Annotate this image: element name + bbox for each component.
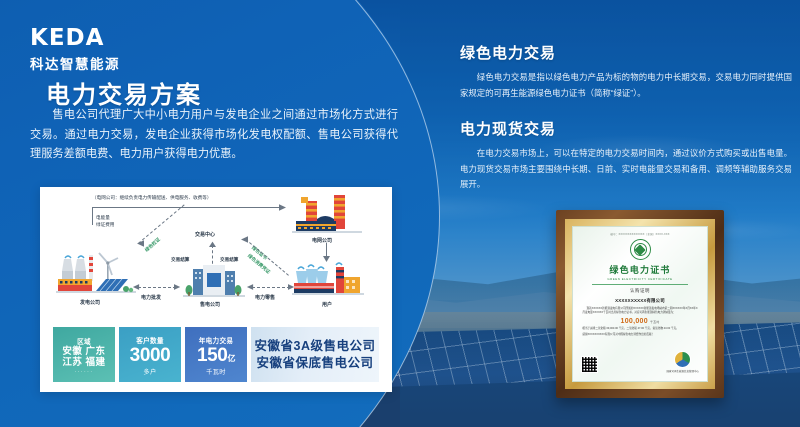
arrow-head-up-icon [208, 241, 217, 248]
diagram-green-cert-label: 绿色权证 [144, 237, 162, 254]
certificate-serial: 编号：XXXXXXXXXXXXXX（全国）XXXX-XXX [610, 232, 669, 236]
diagram-retail-line [252, 287, 290, 288]
certificate-footer-1: 相当于减排二氧化碳 69,000.00 千克，二氧化硫 47.00 千克，氮氧化… [582, 327, 697, 331]
section-2-paragraph: 在电力交易市场上，可以在特定的电力交易时间内，通过议价方式购买或出售电量。电力现… [460, 146, 792, 193]
stat-annual-volume-value-wrap: 150亿 [197, 346, 235, 365]
stat-annual-volume: 年电力交易 150亿 千瓦时 [185, 327, 247, 382]
certificate-bottom-row: 国家可再生能源信息管理中心 [581, 351, 699, 374]
issuer-badge-icon [674, 351, 691, 368]
section-spot-trading: 电力现货交易 在电力交易市场上，可以在特定的电力交易时间内，通过议价方式购买或出… [460, 118, 792, 193]
certificate-footer-2: 感谢XXXXXXXXXX有限公司对中国绿色电力消费作出的贡献！ [582, 333, 697, 337]
certificate-divider [592, 284, 688, 285]
certificate-amount: 100,000 [621, 318, 648, 325]
qualification-line-2: 安徽省保底售电公司 [256, 355, 373, 372]
certificate-amount-wrap: 100,000 千瓦时 [621, 318, 660, 325]
diagram-arrow-top-riser [92, 207, 93, 225]
page-intro-paragraph: 售电公司代理广大中小电力用户与发电企业之间通过市场化方式进行交易。通过电力交易，… [30, 106, 398, 165]
section-green-power-trading: 绿色电力交易 绿色电力交易是指以绿色电力产品为标的物的电力中长期交易，交易电力同… [460, 42, 792, 101]
grid-company-icon [292, 193, 362, 237]
certificate-company: XXXXXXXXXX有限公司 [615, 298, 665, 304]
stat-annual-volume-value: 150 [197, 345, 228, 366]
diagram-node-grid-label: 电网公司 [312, 237, 332, 244]
diagram-retail-label: 电力零售 [255, 294, 275, 301]
page-title: 电力交易方案 [46, 75, 202, 110]
section-2-title: 电力现货交易 [460, 118, 792, 139]
certificate-issuer: 国家可再生能源信息管理中心 [667, 351, 699, 374]
stat-customers-value: 3000 [130, 346, 171, 365]
qualification-line-1: 安徽省3A级售电公司 [255, 338, 376, 355]
arrow-head-left-retail-icon [246, 283, 254, 291]
arrow-head-left-icon [136, 239, 145, 248]
stat-qualifications: KEDA 安徽省3A级售电公司 安徽省保底售电公司 [251, 327, 379, 382]
diagram-fee-label-line2: 绿证费用 [96, 222, 114, 228]
section-1-title: 绿色电力交易 [460, 42, 792, 63]
green-certificate-photo: 编号：XXXXXXXXXXXXXX（全国）XXXX-XXX 绿色电力证书 GRE… [556, 210, 724, 398]
qr-code-icon [581, 356, 598, 373]
certificate-seal-core [634, 244, 645, 255]
stat-region-line2: 江苏 福建 [62, 358, 105, 369]
left-column: 电力交易方案 售电公司代理广大中小电力用户与发电企业之间通过市场化方式进行交易。… [0, 0, 420, 427]
diagram-node-generation-label: 发电公司 [80, 299, 100, 306]
diagram-node-sales-label: 售电公司 [200, 301, 220, 308]
diagram-node-user-label: 用户 [322, 301, 332, 308]
stats-strip: 区域 安徽 广东 江苏 福建 ······ 客户数量 3000 多户 年电力交易… [53, 327, 379, 382]
diagram-fee-label-line1: 电能量 [96, 215, 110, 221]
diagram-trading-center-label: 交易中心 [195, 231, 215, 238]
certificate-amount-unit: 千瓦时 [650, 320, 659, 324]
stat-region: 区域 安徽 广东 江苏 福建 ······ [53, 327, 115, 382]
certificate-title-en: GREEN ELECTRICITY CERTIFICATE [607, 277, 672, 281]
content-card: （电网公司：继续负责电力传输配送、供电服务、收费等） 电能量 绿证费用 交易中心… [40, 187, 392, 392]
stat-region-head: 区域 [77, 336, 91, 346]
stat-customers: 客户数量 3000 多户 [119, 327, 181, 382]
certificate-subtitle: 认购证明 [630, 288, 650, 294]
issuer-name: 国家可再生能源信息管理中心 [667, 369, 699, 373]
stat-annual-volume-head: 年电力交易 [199, 335, 233, 345]
stat-customers-sub: 多户 [143, 367, 156, 376]
certificate-title: 绿色电力证书 [609, 263, 670, 276]
diagram-wholesale-label: 电力批发 [141, 294, 161, 301]
arrow-head-right-wholesale-icon [174, 283, 182, 291]
diagram-green-cert-line [138, 204, 185, 243]
stat-region-line1: 安徽 广东 [62, 347, 105, 358]
arrow-head-right-icon [279, 203, 288, 212]
stat-region-dots: ······ [75, 369, 94, 375]
certificate-seal-icon [630, 239, 651, 260]
section-1-paragraph: 绿色电力交易是指以绿色电力产品为标的物的电力中长期交易，交易电力同时提供国家规定… [460, 70, 792, 101]
diagram-arrow-top-horizontal [92, 207, 282, 208]
diagram-grid-note: （电网公司：继续负责电力传输配送、供电服务、收费等） [92, 195, 211, 201]
power-generation-icon [56, 249, 136, 297]
electricity-sales-company-icon [183, 263, 245, 299]
certificate-body-text: 现就XXXXXX新能源发电有限公司所属的XXXXXX新能源发电场站内第二期XXX… [582, 307, 697, 315]
power-trading-flow-diagram: （电网公司：继续负责电力传输配送、供电服务、收费等） 电能量 绿证费用 交易中心… [40, 187, 392, 322]
stat-annual-volume-unit: 亿 [227, 354, 235, 363]
user-industrial-icon [292, 261, 364, 301]
stat-annual-volume-sub: 千瓦时 [206, 367, 226, 376]
stat-customers-head: 客户数量 [136, 335, 164, 345]
arrow-head-left-icon-2 [240, 235, 249, 244]
certificate-paper: 编号：XXXXXXXXXXXXXX（全国）XXXX-XXX 绿色电力证书 GRE… [572, 226, 708, 382]
diagram-wholesale-line [138, 287, 176, 288]
